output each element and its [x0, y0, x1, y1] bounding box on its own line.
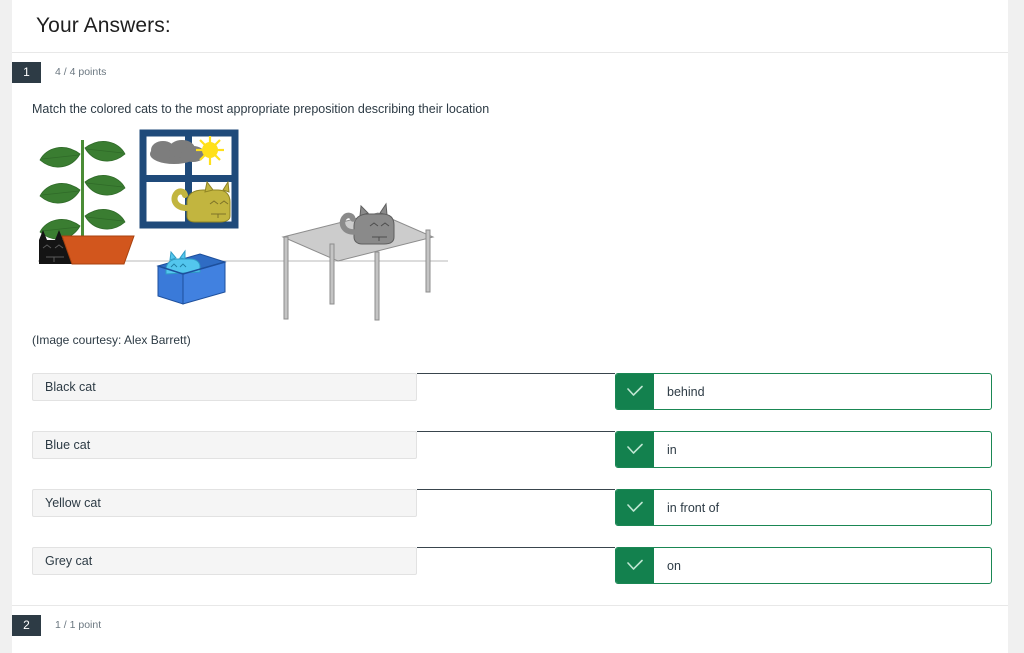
blue-box-icon [158, 251, 225, 304]
question-1-meta: 1 4 / 4 points [12, 60, 1008, 84]
cats-prepositions-scene [30, 124, 450, 324]
match-prompt-black-cat: Black cat [32, 373, 417, 401]
question-points: 4 / 4 points [55, 66, 106, 78]
match-row: Grey cat on [12, 547, 1008, 605]
match-connector-line [417, 431, 615, 432]
question-number-badge: 1 [12, 62, 41, 83]
question-2: 2 1 / 1 point [12, 613, 1008, 641]
quiz-header: Your Answers: [12, 0, 1008, 53]
match-row: Black cat behind [12, 373, 1008, 431]
question-illustration [30, 124, 1008, 329]
page-title: Your Answers: [36, 14, 171, 38]
question-2-meta: 2 1 / 1 point [12, 613, 1008, 637]
question-number-badge: 2 [12, 615, 41, 636]
match-answer-behind[interactable]: behind [615, 373, 992, 410]
match-connector-line [417, 489, 615, 490]
match-answer-on[interactable]: on [615, 547, 992, 584]
match-prompt-grey-cat: Grey cat [32, 547, 417, 575]
match-connector-line [417, 373, 615, 374]
question-prompt: Match the colored cats to the most appro… [32, 102, 1008, 116]
check-icon [616, 548, 654, 583]
match-prompt-yellow-cat: Yellow cat [32, 489, 417, 517]
match-answer-in-front-of[interactable]: in front of [615, 489, 992, 526]
match-answer-text: in front of [654, 490, 719, 525]
check-icon [616, 374, 654, 409]
image-caption: (Image courtesy: Alex Barrett) [32, 333, 1008, 347]
match-answer-in[interactable]: in [615, 431, 992, 468]
question-1: 1 4 / 4 points Match the colored cats to… [12, 60, 1008, 605]
question-divider [12, 605, 1008, 606]
table-icon [283, 204, 433, 320]
quiz-results-page: Your Answers: 1 4 / 4 points Match the c… [0, 0, 1024, 653]
flower-pot-icon [62, 236, 134, 264]
quiz-card: Your Answers: 1 4 / 4 points Match the c… [12, 0, 1008, 653]
question-points: 1 / 1 point [55, 619, 101, 631]
match-prompt-blue-cat: Blue cat [32, 431, 417, 459]
match-answer-text: on [654, 548, 681, 583]
matching-answers-list: Black cat behind Blue cat [12, 373, 1008, 605]
check-icon [616, 490, 654, 525]
match-answer-text: in [654, 432, 677, 467]
match-answer-text: behind [654, 374, 705, 409]
match-connector-line [417, 547, 615, 548]
window-icon [143, 133, 235, 225]
match-row: Blue cat in [12, 431, 1008, 489]
match-row: Yellow cat in front of [12, 489, 1008, 547]
check-icon [616, 432, 654, 467]
